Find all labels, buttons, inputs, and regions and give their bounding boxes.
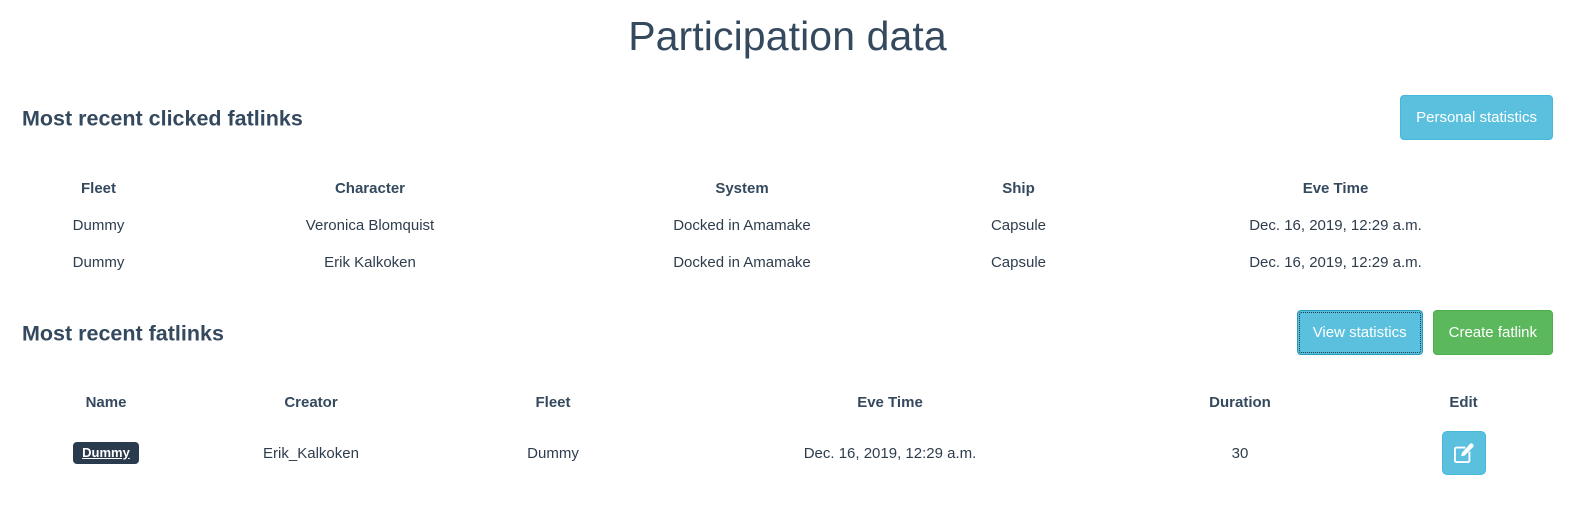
- cell-name: Dummy: [22, 421, 190, 485]
- column-header-eve-time: Eve Time: [1118, 170, 1553, 207]
- cell-fleet: Dummy: [22, 207, 175, 244]
- page-title: Participation data: [0, 8, 1575, 64]
- recent-fatlinks-header: Most recent fatlinks View statistics Cre…: [22, 310, 1553, 358]
- column-header-duration: Duration: [1106, 384, 1374, 421]
- cell-fleet: Dummy: [22, 244, 175, 281]
- table-header-row: Fleet Character System Ship Eve Time: [22, 170, 1553, 207]
- view-statistics-button[interactable]: View statistics: [1297, 310, 1423, 355]
- table-row: Dummy Erik Kalkoken Docked in Amamake Ca…: [22, 244, 1553, 281]
- recent-clicked-header: Most recent clicked fatlinks Personal st…: [22, 95, 1553, 143]
- recent-fatlinks-heading: Most recent fatlinks: [22, 322, 224, 347]
- cell-ship: Capsule: [919, 244, 1118, 281]
- cell-creator: Erik_Kalkoken: [190, 421, 432, 485]
- cell-edit: [1374, 421, 1553, 485]
- cell-character: Veronica Blomquist: [175, 207, 565, 244]
- recent-clicked-actions: Personal statistics: [1400, 95, 1553, 140]
- column-header-fleet: Fleet: [22, 170, 175, 207]
- personal-statistics-button[interactable]: Personal statistics: [1400, 95, 1553, 140]
- column-header-character: Character: [175, 170, 565, 207]
- recent-clicked-table: Fleet Character System Ship Eve Time Dum…: [22, 170, 1553, 281]
- cell-system: Docked in Amamake: [565, 207, 919, 244]
- table-row: Dummy Veronica Blomquist Docked in Amama…: [22, 207, 1553, 244]
- cell-duration: 30: [1106, 421, 1374, 485]
- table-header-row: Name Creator Fleet Eve Time Duration Edi…: [22, 384, 1553, 421]
- cell-ship: Capsule: [919, 207, 1118, 244]
- column-header-eve-time: Eve Time: [674, 384, 1106, 421]
- cell-eve-time: Dec. 16, 2019, 12:29 a.m.: [1118, 244, 1553, 281]
- cell-eve-time: Dec. 16, 2019, 12:29 a.m.: [674, 421, 1106, 485]
- edit-pen-square-icon: [1454, 443, 1474, 463]
- fatlink-name-link[interactable]: Dummy: [73, 442, 139, 464]
- column-header-fleet: Fleet: [432, 384, 674, 421]
- recent-clicked-heading: Most recent clicked fatlinks: [22, 107, 303, 132]
- table-row: Dummy Erik_Kalkoken Dummy Dec. 16, 2019,…: [22, 421, 1553, 485]
- recent-fatlinks-actions: View statistics Create fatlink: [1297, 310, 1553, 355]
- participation-data-page: Participation data Most recent clicked f…: [0, 0, 1575, 511]
- edit-fatlink-button[interactable]: [1442, 431, 1486, 475]
- recent-fatlinks-table: Name Creator Fleet Eve Time Duration Edi…: [22, 384, 1553, 485]
- cell-fleet: Dummy: [432, 421, 674, 485]
- cell-system: Docked in Amamake: [565, 244, 919, 281]
- cell-character: Erik Kalkoken: [175, 244, 565, 281]
- column-header-system: System: [565, 170, 919, 207]
- column-header-edit: Edit: [1374, 384, 1553, 421]
- create-fatlink-button[interactable]: Create fatlink: [1433, 310, 1553, 355]
- column-header-ship: Ship: [919, 170, 1118, 207]
- column-header-creator: Creator: [190, 384, 432, 421]
- column-header-name: Name: [22, 384, 190, 421]
- cell-eve-time: Dec. 16, 2019, 12:29 a.m.: [1118, 207, 1553, 244]
